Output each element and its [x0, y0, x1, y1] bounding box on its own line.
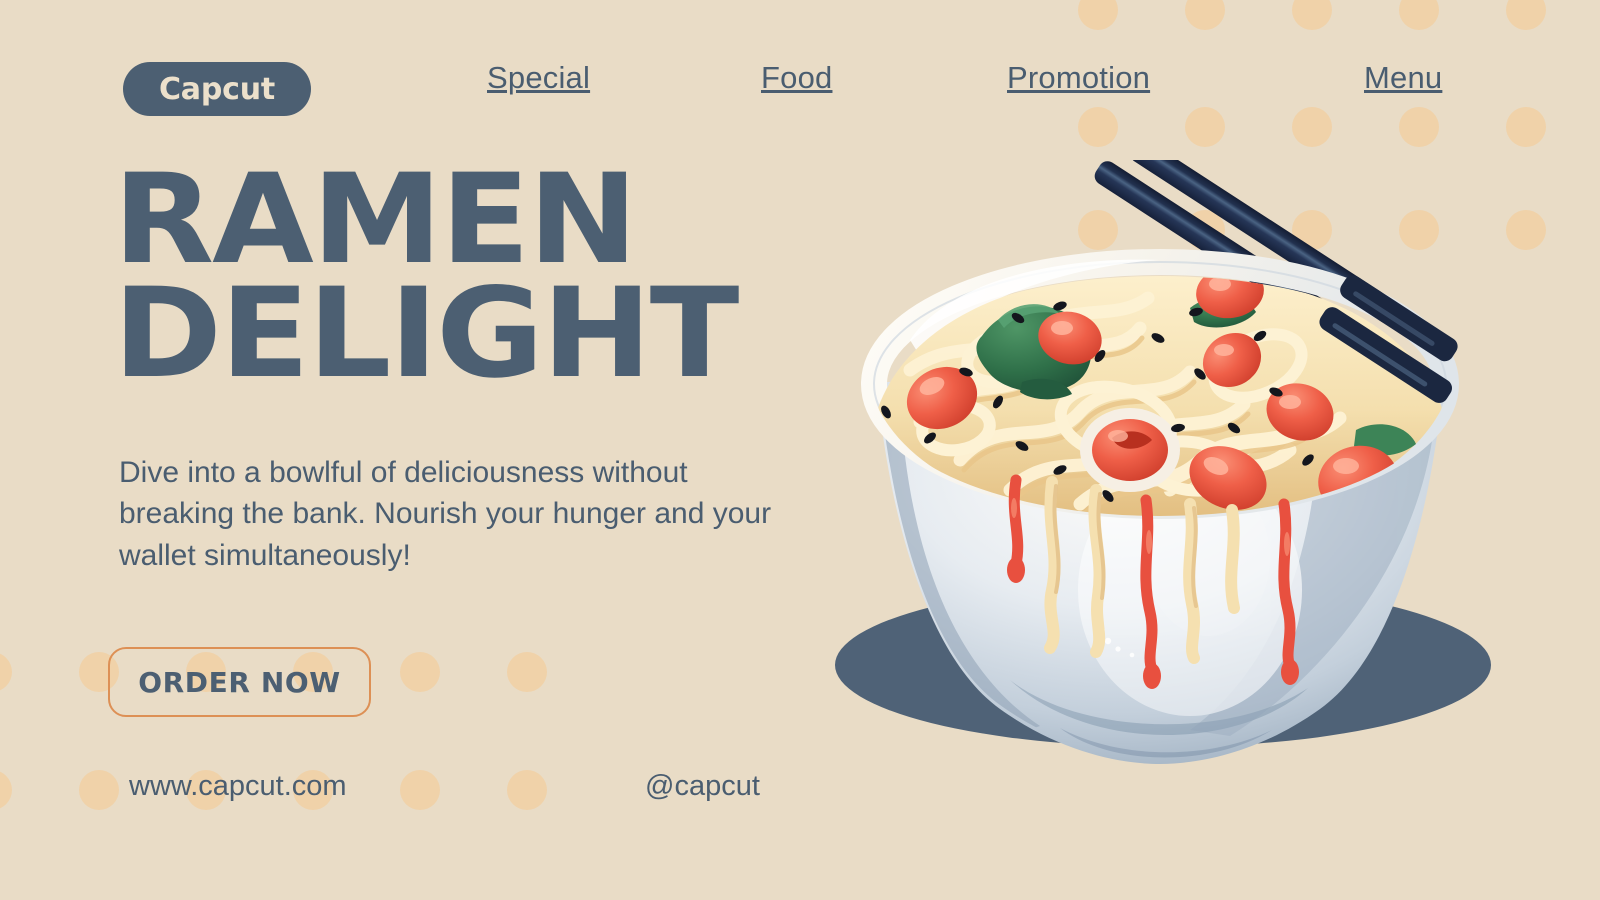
decor-dot	[507, 770, 547, 810]
decor-dot	[79, 770, 119, 810]
decor-dot	[0, 770, 12, 810]
nav-link-promotion[interactable]: Promotion	[1007, 60, 1150, 96]
decor-dot	[400, 652, 440, 692]
brand-logo[interactable]: Capcut	[123, 62, 311, 116]
hero-description: Dive into a bowlful of deliciousness wit…	[119, 452, 799, 576]
page-title-line-2: DELIGHT	[113, 277, 737, 391]
decor-dot	[507, 652, 547, 692]
navbar: Capcut Special Food Promotion Menu	[0, 0, 1600, 160]
nav-link-menu[interactable]: Menu	[1364, 60, 1442, 96]
decor-dot	[400, 770, 440, 810]
nav-link-food[interactable]: Food	[761, 60, 832, 96]
banner-canvas: Capcut Special Food Promotion Menu RAMEN…	[0, 0, 1600, 900]
page-title: RAMEN DELIGHT	[113, 163, 737, 391]
footer-social-handle[interactable]: @capcut	[645, 770, 760, 803]
nav-link-special[interactable]: Special	[487, 60, 590, 96]
ramen-bowl-illustration	[760, 160, 1560, 820]
order-now-label: ORDER NOW	[138, 666, 341, 699]
footer-website[interactable]: www.capcut.com	[129, 770, 347, 803]
order-now-button[interactable]: ORDER NOW	[108, 647, 371, 717]
brand-logo-label: Capcut	[159, 72, 275, 107]
decor-dot	[0, 652, 12, 692]
